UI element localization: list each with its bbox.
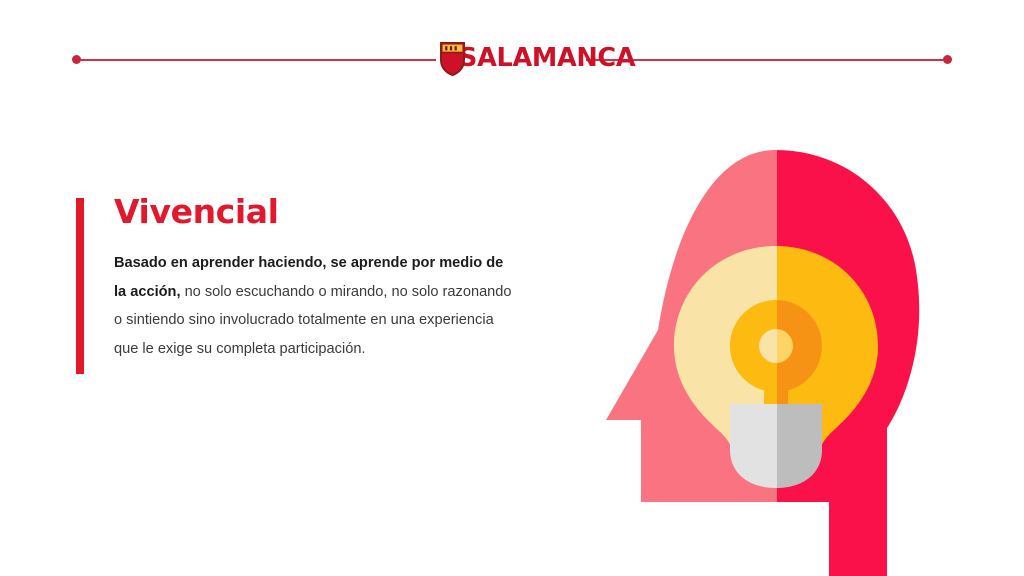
slide-root: SALAMANCA Vivencial Basado en aprender h… <box>0 0 1024 576</box>
head-lightbulb-illustration <box>596 140 960 576</box>
header-rule-left <box>76 59 436 61</box>
header-dot-right-icon <box>943 55 952 64</box>
body-paragraph: Basado en aprender haciendo, se aprende … <box>114 249 516 363</box>
brand-logo: SALAMANCA <box>440 41 635 77</box>
header-rule-right <box>586 59 948 61</box>
brand-wordmark: SALAMANCA <box>459 46 635 72</box>
salamanca-shield-icon <box>440 42 465 76</box>
head-lightbulb-svg <box>596 140 960 576</box>
header-dot-left-icon <box>72 55 81 64</box>
page-title: Vivencial <box>114 194 279 230</box>
slide-header: SALAMANCA <box>0 0 1024 112</box>
title-accent-bar <box>76 198 84 374</box>
